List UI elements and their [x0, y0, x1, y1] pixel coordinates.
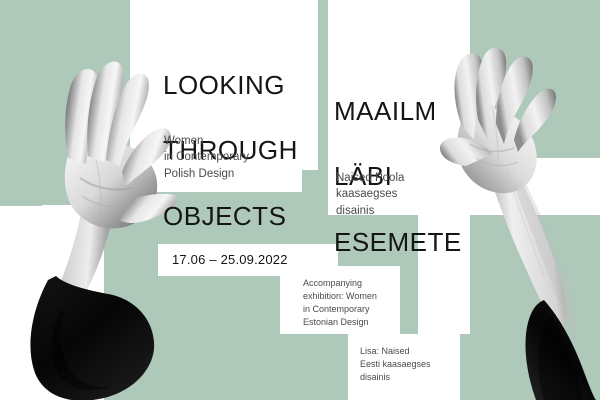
accompanying-note-en-line-3: in Contemporary [303, 303, 403, 316]
accompanying-note-et-line-2: Eesti kaasaegses [360, 358, 460, 371]
subtitle-en: Women in Contemporary Polish Design [164, 133, 304, 182]
left-hand-image [8, 48, 178, 400]
title-en-line-1: LOOKING [163, 69, 313, 102]
subtitle-et-line-3: disainis [336, 203, 476, 219]
subtitle-en-line-3: Polish Design [164, 166, 304, 182]
title-et-line-3: ESEMETE [334, 226, 484, 259]
accompanying-note-en-line-1: Accompanying [303, 277, 403, 290]
exhibition-poster: LOOKING THROUGH OBJECTS Women in Contemp… [0, 0, 600, 400]
accompanying-note-et: Lisa: Naised Eesti kaasaegses disainis [360, 345, 460, 384]
accompanying-note-et-line-3: disainis [360, 371, 460, 384]
subtitle-en-line-1: Women [164, 133, 304, 149]
subtitle-et: Naised Poola kaasaegses disainis [336, 170, 476, 219]
title-et-line-1: MAAILM [334, 95, 484, 128]
accompanying-note-en: Accompanying exhibition: Women in Contem… [303, 277, 403, 329]
subtitle-en-line-2: in Contemporary [164, 149, 304, 165]
exhibition-dates: 17.06 – 25.09.2022 [172, 252, 288, 267]
accompanying-note-et-line-1: Lisa: Naised [360, 345, 460, 358]
subtitle-et-line-2: kaasaegses [336, 186, 476, 202]
accompanying-note-en-line-4: Estonian Design [303, 316, 403, 329]
subtitle-et-line-1: Naised Poola [336, 170, 476, 186]
title-en-line-3: OBJECTS [163, 200, 313, 233]
accompanying-note-en-line-2: exhibition: Women [303, 290, 403, 303]
